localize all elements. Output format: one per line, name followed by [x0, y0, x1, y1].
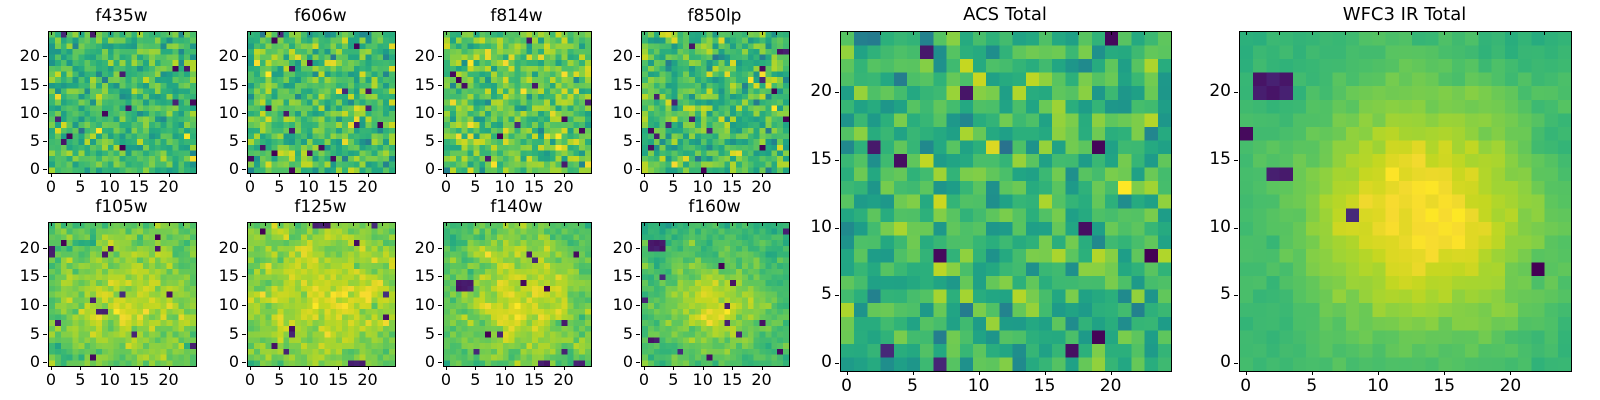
figure-canvas: f435w0510152005101520f606w05101520051015… — [0, 0, 1600, 400]
x-tick-label: 15 — [1419, 378, 1469, 395]
panel-title-wfc3_ir_total: WFC3 IR Total — [1239, 6, 1570, 24]
y-tickmark — [1234, 92, 1238, 93]
y-tick-label: 0 — [1177, 354, 1231, 371]
x-tick-label: 10 — [1353, 378, 1403, 395]
heatmap-wfc3_ir_total — [1239, 31, 1572, 372]
x-tickmark — [1312, 371, 1313, 375]
x-minor-tickmark — [1544, 31, 1545, 35]
x-tickmark — [1444, 371, 1445, 375]
x-minor-tickmark — [1477, 31, 1478, 35]
x-minor-tickmark — [1378, 31, 1379, 35]
heatmap-image-wfc3_ir_total — [1240, 32, 1571, 371]
y-tick-label: 20 — [1177, 83, 1231, 100]
x-minor-tickmark — [1279, 31, 1280, 35]
x-tickmark — [1510, 371, 1511, 375]
y-tick-label: 5 — [1177, 286, 1231, 303]
x-minor-tickmark — [1312, 31, 1313, 35]
x-minor-tickmark — [1510, 31, 1511, 35]
x-minor-tickmark — [1444, 31, 1445, 35]
x-tickmark — [1246, 371, 1247, 375]
y-tickmark — [1234, 228, 1238, 229]
y-tickmark — [1234, 160, 1238, 161]
x-minor-tickmark — [1246, 31, 1247, 35]
x-minor-tickmark — [1411, 31, 1412, 35]
y-tick-label: 15 — [1177, 151, 1231, 168]
x-tick-label: 20 — [1485, 378, 1535, 395]
y-tick-label: 10 — [1177, 219, 1231, 236]
x-tick-label: 5 — [1287, 378, 1337, 395]
x-minor-tickmark — [1345, 31, 1346, 35]
y-tickmark — [1234, 363, 1238, 364]
y-tickmark — [1234, 295, 1238, 296]
panel-wfc3_ir_total: WFC3 IR Total0510152005101520 — [0, 0, 1600, 400]
x-tick-label: 0 — [1221, 378, 1271, 395]
x-tickmark — [1378, 371, 1379, 375]
